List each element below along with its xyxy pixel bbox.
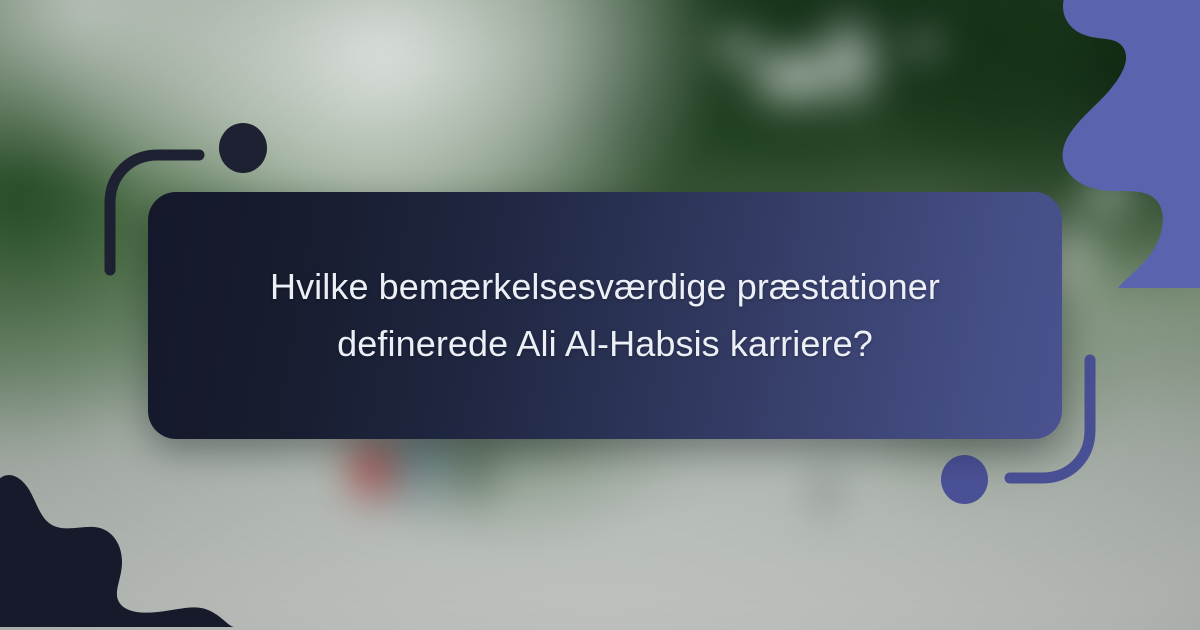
question-card: Hvilke bemærkelsesværdige præstationer d… — [148, 192, 1062, 439]
blob-bottom-left-shape — [0, 452, 248, 630]
dot-top-left-accent — [219, 123, 267, 173]
preview-canvas: Hvilke bemærkelsesværdige præstationer d… — [0, 0, 1200, 630]
dot-bottom-right-accent — [941, 455, 988, 504]
question-text: Hvilke bemærkelsesværdige præstationer d… — [235, 259, 975, 373]
